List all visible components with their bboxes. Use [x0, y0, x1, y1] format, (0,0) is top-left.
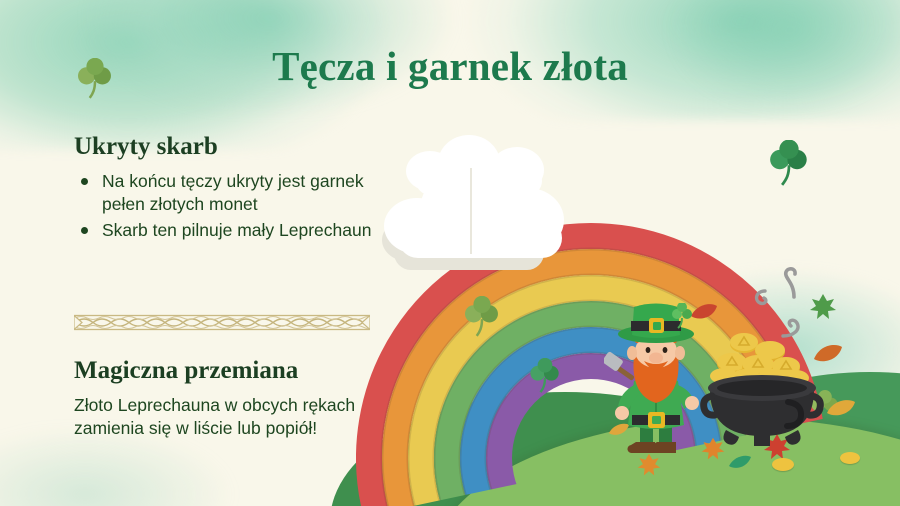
- bullet-list-1: Na końcu tęczy ukryty jest garnek pełen …: [74, 170, 404, 242]
- section-magical-transformation: Magiczna przemiana Złoto Leprechauna w o…: [74, 357, 424, 440]
- coin-on-grass: [772, 458, 794, 471]
- section-hidden-treasure: Ukryty skarb Na końcu tęczy ukryty jest …: [74, 133, 404, 245]
- coin-on-grass-right: [840, 452, 860, 464]
- celtic-knot-divider: [74, 313, 370, 332]
- page-title: Tęcza i garnek złota: [0, 42, 900, 90]
- leaf-amber: [826, 398, 856, 423]
- smoke-swirl-left: [752, 288, 778, 321]
- watercolor-wash-bottom-left: [0, 430, 250, 506]
- smoke-swirl-mid: [780, 266, 808, 305]
- leaf-green-small-hill: [728, 454, 752, 475]
- pot-of-gold: [700, 330, 824, 448]
- slide-canvas: Tęcza i garnek złota Ukryty skarb Na koń…: [0, 0, 900, 506]
- section-heading-1: Ukryty skarb: [74, 133, 404, 161]
- shamrock-mid-lower: [527, 358, 563, 394]
- list-item: Skarb ten pilnuje mały Leprechaun: [100, 219, 404, 242]
- shamrock-top-right: [766, 140, 812, 186]
- section-body-2: Złoto Leprechauna w obcych rękach zamien…: [74, 394, 424, 441]
- leaf-green-maple: [808, 292, 838, 327]
- section-heading-2: Magiczna przemiana: [74, 357, 424, 385]
- list-item: Na końcu tęczy ukryty jest garnek pełen …: [100, 170, 404, 216]
- leprechaun: [604, 303, 708, 463]
- shamrock-mid-left: [461, 296, 503, 338]
- cloud-main: [384, 158, 574, 268]
